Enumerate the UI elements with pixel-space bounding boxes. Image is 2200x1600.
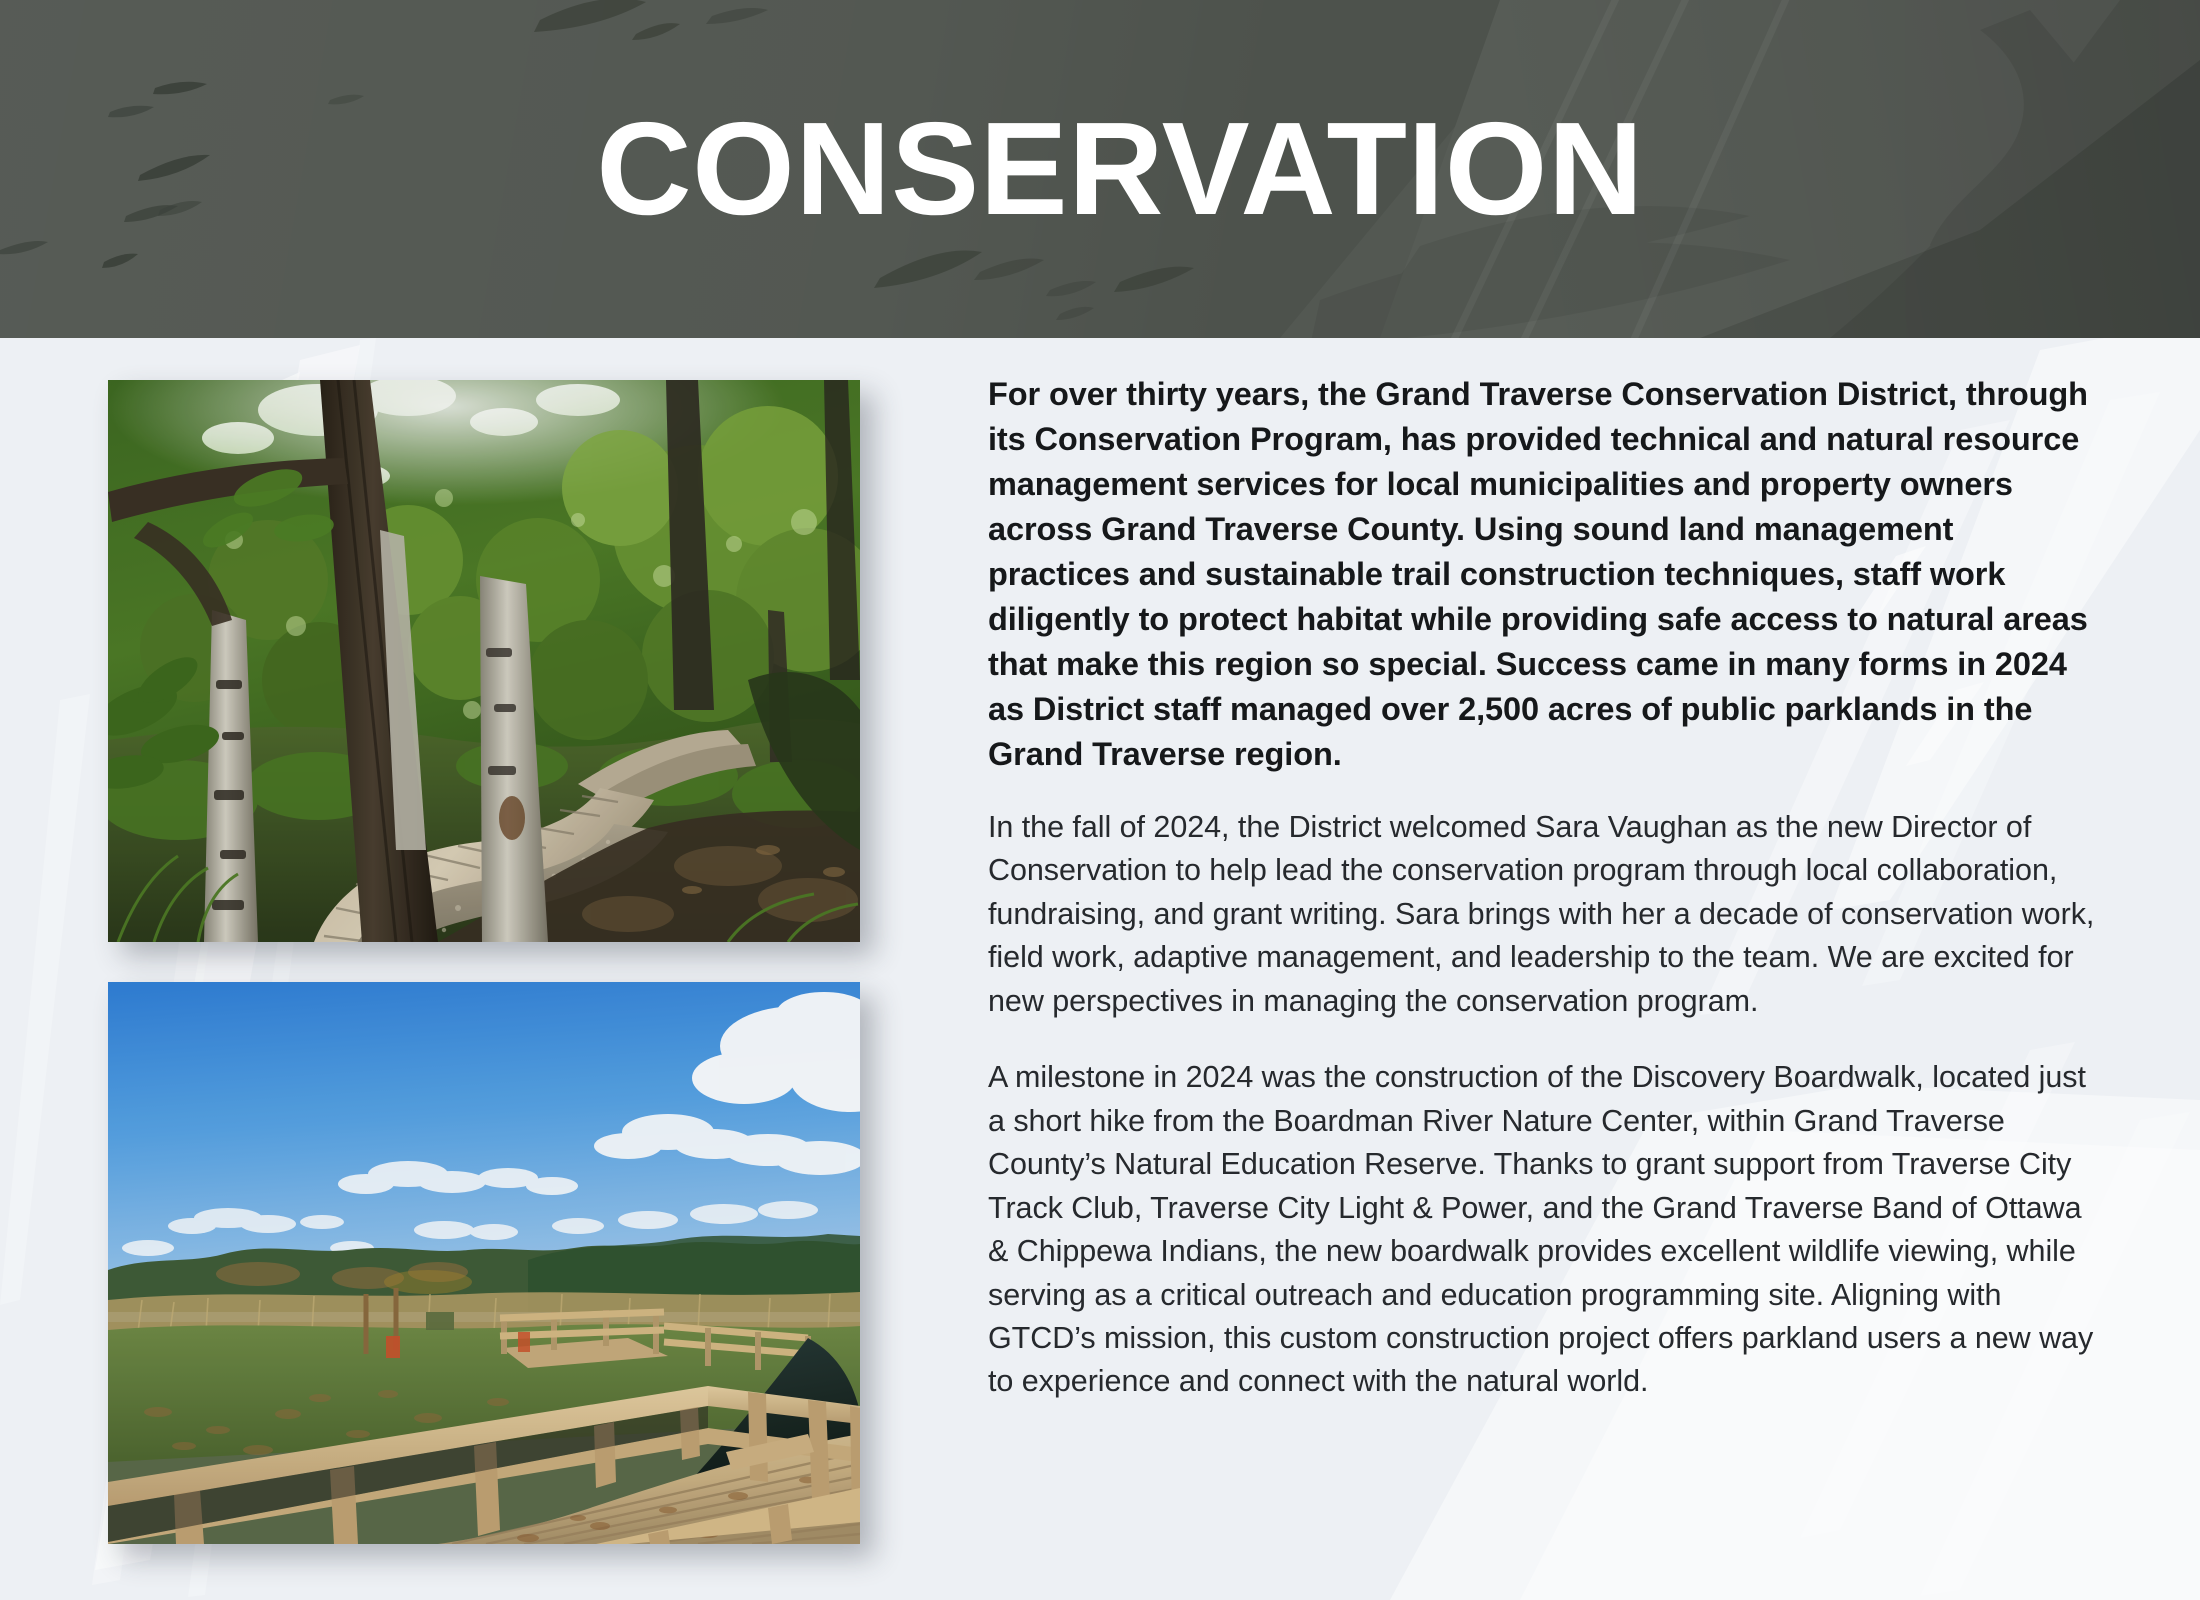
page-header-banner: CONSERVATION <box>0 0 2200 338</box>
paragraph-intro: For over thirty years, the Grand Travers… <box>988 372 2098 777</box>
paragraph-new-director: In the fall of 2024, the District welcom… <box>988 806 2098 1023</box>
page-canvas: CONSERVATION <box>0 0 2200 1600</box>
forest-boardwalk-photo <box>108 380 860 942</box>
discovery-boardwalk-photo <box>108 982 860 1544</box>
page-title: CONSERVATION <box>0 0 2200 338</box>
paragraph-discovery-boardwalk: A milestone in 2024 was the construction… <box>988 1056 2098 1404</box>
article-body: For over thirty years, the Grand Travers… <box>988 372 2098 1404</box>
